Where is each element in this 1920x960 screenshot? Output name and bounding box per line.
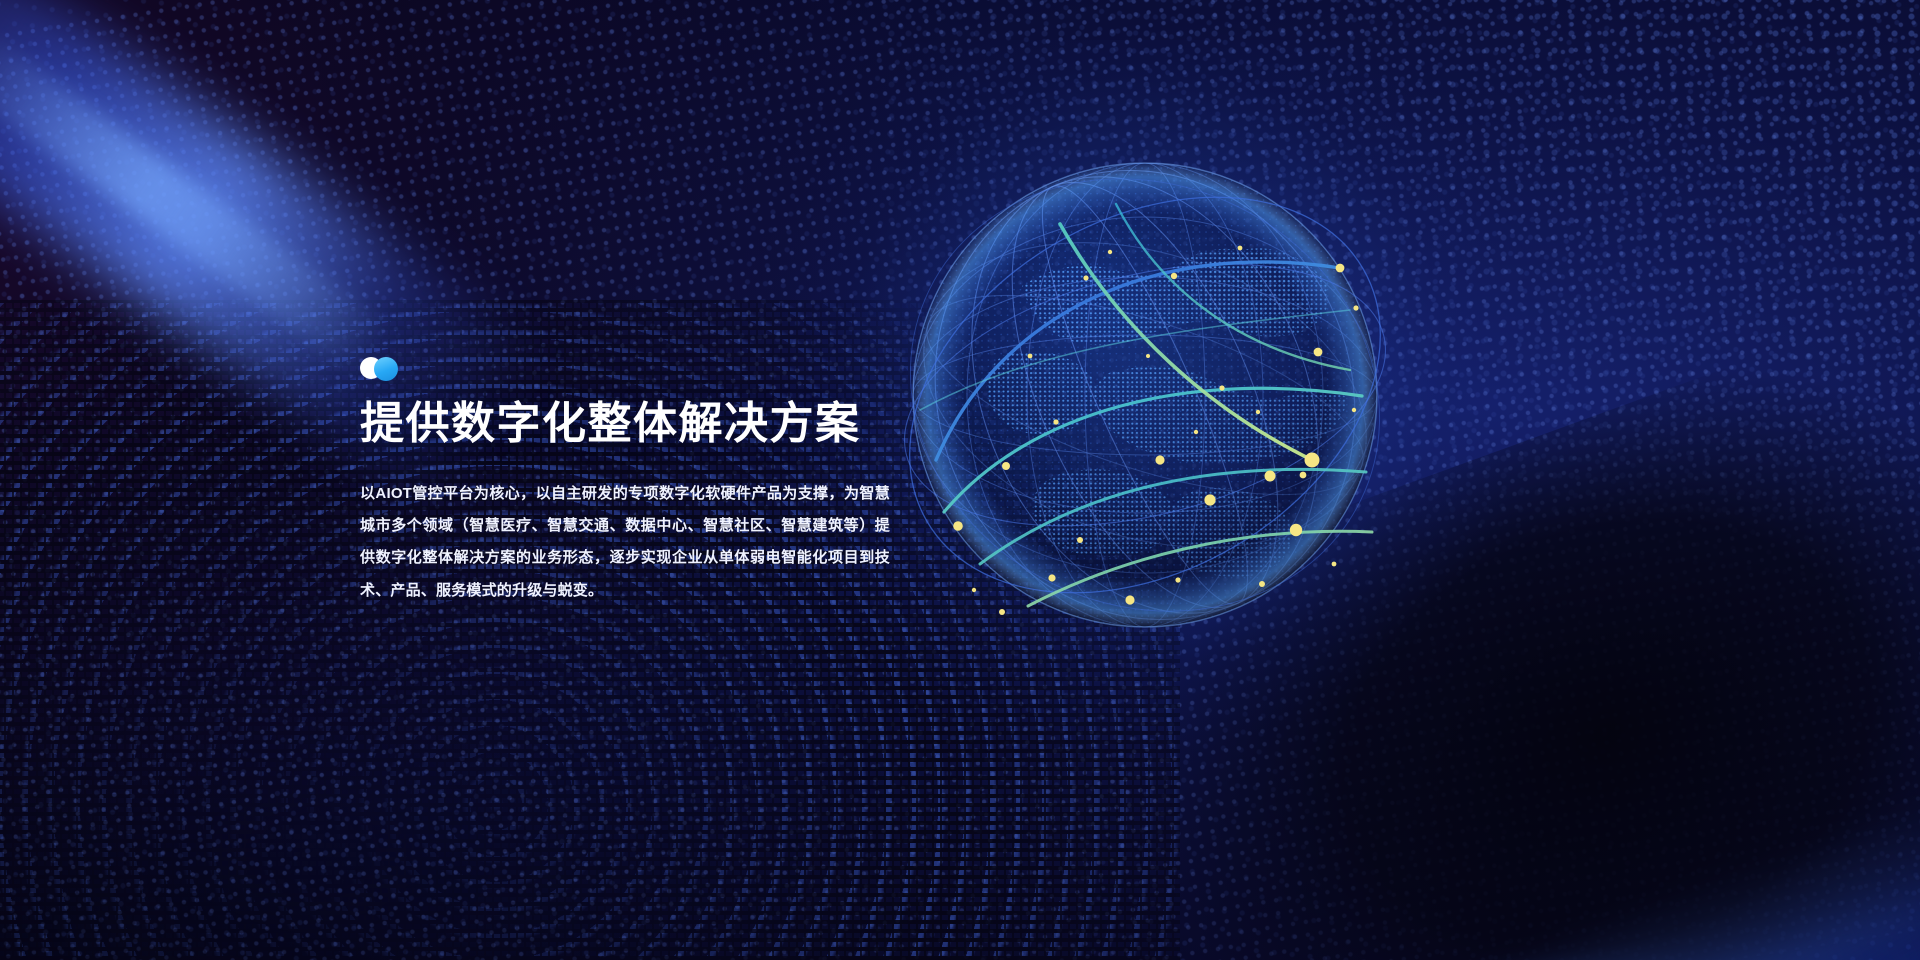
banner-description: 以AIOT管控平台为核心，以自主研发的专项数字化软硬件产品为支撑，为智慧城市多个… — [360, 478, 890, 608]
circle-blue-icon — [374, 357, 398, 381]
brand-dots-badge — [360, 356, 416, 382]
page-title: 提供数字化整体解决方案 — [360, 400, 900, 448]
hero-banner: 提供数字化整体解决方案 以AIOT管控平台为核心，以自主研发的专项数字化软硬件产… — [0, 0, 1920, 960]
globe-rim-glow — [913, 163, 1377, 627]
banner-content: 提供数字化整体解决方案 以AIOT管控平台为核心，以自主研发的专项数字化软硬件产… — [360, 356, 900, 607]
digital-globe-illustration — [910, 160, 1380, 630]
